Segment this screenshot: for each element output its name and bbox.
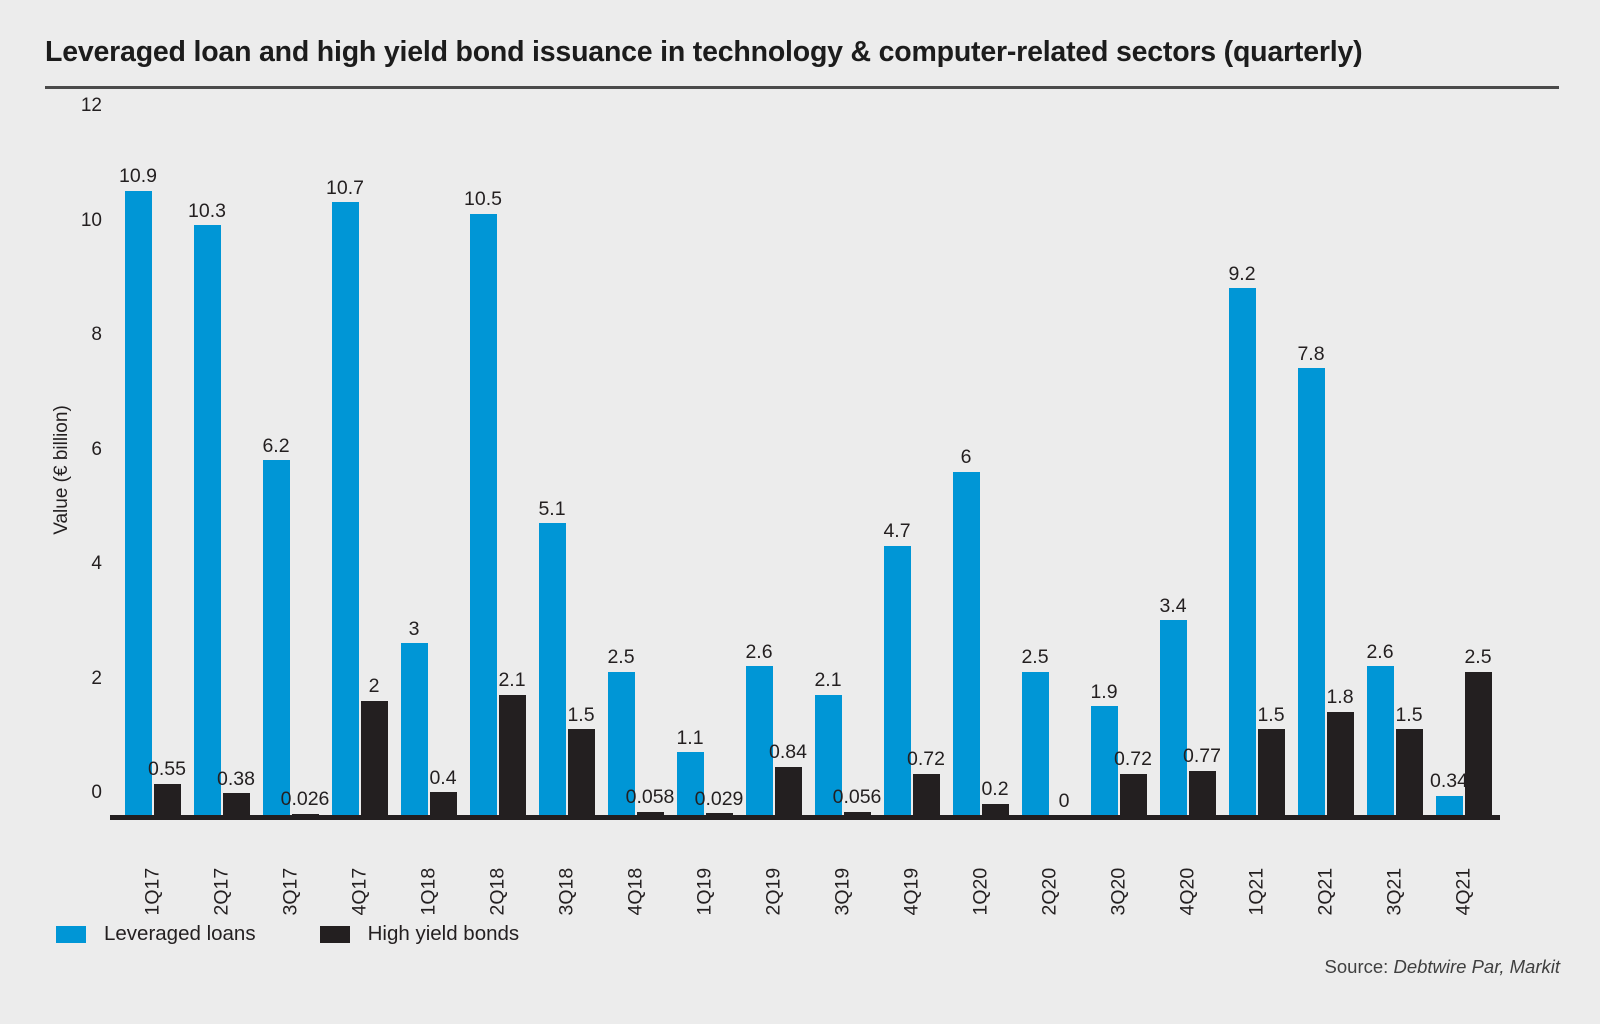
bar-value-label: 1.5 [1257,706,1284,726]
source-value: Debtwire Par, Markit [1393,956,1560,977]
bar-bonds[interactable]: 1.5 [1258,729,1285,815]
y-axis-tick: 8 [91,324,102,346]
bar-group: 2.60.84 [746,128,802,815]
x-axis-tick: 3Q17 [263,828,319,898]
bar-bonds[interactable]: 2 [361,701,388,816]
x-axis-tick: 3Q18 [539,828,595,898]
x-axis-tick-label: 3Q21 [1385,868,1405,916]
x-axis-tick-label: 4Q17 [350,868,370,916]
bar-loans[interactable]: 6 [953,472,980,816]
bar-value-label: 0.77 [1183,747,1221,767]
x-axis-tick-label: 2Q17 [212,868,232,916]
y-axis-title: Value (€ billion) [51,405,73,535]
x-axis-tick-label: 2Q20 [1040,868,1060,916]
x-axis-tick: 1Q19 [677,828,733,898]
bar-value-label: 9.2 [1228,265,1255,285]
bar-bonds[interactable]: 1.5 [1396,729,1423,815]
bar-value-label: 5.1 [538,500,565,520]
bar-value-label: 0.056 [833,788,882,808]
x-axis-tick: 4Q19 [884,828,940,898]
bar-value-label: 1.5 [1395,706,1422,726]
bar-value-label: 2.5 [1464,648,1491,668]
x-axis-tick: 4Q20 [1160,828,1216,898]
x-axis-tick: 3Q20 [1091,828,1147,898]
x-axis-tick: 2Q19 [746,828,802,898]
bar-group: 1.10.029 [677,128,733,815]
bar-group: 0.342.5 [1436,128,1492,815]
legend-swatch-high-yield-bonds [320,926,350,943]
bar-value-label: 7.8 [1297,345,1324,365]
title-divider [45,86,1559,89]
x-axis-tick: 1Q21 [1229,828,1285,898]
x-axis-tick: 2Q18 [470,828,526,898]
bar-group: 60.2 [953,128,1009,815]
bar-loans[interactable]: 4.7 [884,546,911,815]
bar-value-label: 0.34 [1430,772,1468,792]
bar-bonds[interactable]: 0.77 [1189,771,1216,815]
bar-group: 2.50.058 [608,128,664,815]
bar-value-label: 10.5 [464,190,502,210]
bar-loans[interactable]: 2.5 [1022,672,1049,815]
bar-loans[interactable]: 3.4 [1160,620,1187,815]
x-axis-tick: 4Q18 [608,828,664,898]
bar-value-label: 0.058 [626,788,675,808]
x-axis-tick: 2Q17 [194,828,250,898]
bar-value-label: 6 [961,448,972,468]
x-axis-tick: 1Q20 [953,828,1009,898]
bar-bonds[interactable]: 2.5 [1465,672,1492,815]
bar-bonds[interactable]: 2.1 [499,695,526,815]
legend-label-high-yield-bonds: High yield bonds [368,922,520,946]
legend-label-leveraged-loans: Leveraged loans [104,922,256,946]
legend-swatch-leveraged-loans [56,926,86,943]
bar-group: 5.11.5 [539,128,595,815]
bar-bonds[interactable]: 1.8 [1327,712,1354,815]
bar-group: 10.72 [332,128,388,815]
x-axis-tick-label: 2Q18 [488,868,508,916]
y-axis-tick: 10 [81,210,102,232]
bar-group: 2.61.5 [1367,128,1423,815]
x-axis-tick: 1Q18 [401,828,457,898]
x-axis-tick: 2Q20 [1022,828,1078,898]
y-axis-tick: 6 [91,439,102,461]
x-axis-tick-label: 1Q19 [695,868,715,916]
bar-bonds[interactable]: 1.5 [568,729,595,815]
bar-group: 10.30.38 [194,128,250,815]
legend-item-high-yield-bonds: High yield bonds [320,922,520,946]
bar-group: 7.81.8 [1298,128,1354,815]
bar-loans[interactable]: 5.1 [539,523,566,815]
x-axis-tick-label: 3Q17 [281,868,301,916]
bar-group: 30.4 [401,128,457,815]
bar-value-label: 3 [409,620,420,640]
bar-value-label: 1.8 [1326,688,1353,708]
bar-value-label: 2.1 [814,671,841,691]
legend-item-leveraged-loans: Leveraged loans [56,922,256,946]
x-axis-tick-label: 1Q20 [971,868,991,916]
plot-area: 02468101210.90.5510.30.386.20.02610.7230… [118,128,1498,815]
bar-loans[interactable]: 9.2 [1229,288,1256,815]
x-axis-tick-label: 3Q19 [833,868,853,916]
bar-loans[interactable]: 10.7 [332,202,359,815]
x-axis-tick-label: 2Q19 [764,868,784,916]
bar-loans[interactable]: 10.5 [470,214,497,815]
x-axis-tick-label: 1Q18 [419,868,439,916]
bar-value-label: 4.7 [883,522,910,542]
bar-group: 10.90.55 [125,128,181,815]
bar-value-label: 0.38 [217,770,255,790]
bar-value-label: 2.6 [1366,643,1393,663]
x-axis-tick-label: 4Q20 [1178,868,1198,916]
bar-bonds[interactable]: 0.72 [1120,774,1147,815]
x-axis-tick-label: 4Q18 [626,868,646,916]
source-attribution: Source: Debtwire Par, Markit [1325,956,1560,978]
x-axis-tick: 4Q21 [1436,828,1492,898]
bar-loans[interactable]: 3 [401,643,428,815]
page-title: Leveraged loan and high yield bond issua… [45,36,1560,69]
x-axis-tick-label: 1Q17 [143,868,163,916]
source-prefix: Source: [1325,956,1389,977]
bar-bonds[interactable]: 0.84 [775,767,802,815]
bar-value-label: 10.9 [119,167,157,187]
x-axis-tick: 1Q17 [125,828,181,898]
y-axis-tick: 2 [91,668,102,690]
bar-bonds[interactable]: 0.55 [154,784,181,815]
bar-loans[interactable]: 0.34 [1436,796,1463,815]
x-axis-tick-label: 3Q20 [1109,868,1129,916]
bar-bonds[interactable]: 0.2 [982,804,1009,815]
x-axis-tick: 3Q19 [815,828,871,898]
x-axis-tick: 2Q21 [1298,828,1354,898]
bar-value-label: 0.2 [981,780,1008,800]
bar-value-label: 10.3 [188,202,226,222]
bar-value-label: 2.6 [745,643,772,663]
bar-group: 2.10.056 [815,128,871,815]
y-axis-tick: 12 [81,95,102,117]
x-axis-line [110,815,1500,820]
bar-value-label: 2 [369,677,380,697]
bar-group: 1.90.72 [1091,128,1147,815]
y-axis-tick: 4 [91,553,102,575]
bar-group: 2.50 [1022,128,1078,815]
bar-value-label: 0.72 [907,750,945,770]
x-axis-tick-label: 1Q21 [1247,868,1267,916]
x-axis-tick-label: 4Q21 [1454,868,1474,916]
bar-value-label: 1.1 [676,729,703,749]
bar-value-label: 10.7 [326,179,364,199]
bar-value-label: 3.4 [1159,597,1186,617]
x-axis-tick: 3Q21 [1367,828,1423,898]
bar-bonds[interactable]: 0.38 [223,793,250,815]
bar-loans[interactable]: 6.2 [263,460,290,815]
bar-value-label: 2.5 [607,648,634,668]
bar-value-label: 0 [1059,792,1070,812]
bar-group: 3.40.77 [1160,128,1216,815]
y-axis-tick: 0 [91,782,102,804]
bar-value-label: 0.72 [1114,750,1152,770]
bar-bonds[interactable]: 0.72 [913,774,940,815]
bar-value-label: 0.026 [281,790,330,810]
bar-value-label: 1.9 [1090,683,1117,703]
bar-group: 4.70.72 [884,128,940,815]
bar-value-label: 2.1 [498,671,525,691]
bar-loans[interactable]: 10.9 [125,191,152,815]
x-axis-tick-label: 4Q19 [902,868,922,916]
bar-bonds[interactable]: 0.4 [430,792,457,815]
bar-loans[interactable]: 7.8 [1298,368,1325,815]
bar-group: 10.52.1 [470,128,526,815]
bar-loans[interactable]: 2.6 [1367,666,1394,815]
bar-value-label: 0.55 [148,760,186,780]
bar-value-label: 2.5 [1021,648,1048,668]
bar-value-label: 0.029 [695,790,744,810]
bar-loans[interactable]: 10.3 [194,225,221,815]
chart-legend: Leveraged loans High yield bonds [56,922,519,946]
bar-value-label: 6.2 [262,437,289,457]
x-axis-tick: 4Q17 [332,828,388,898]
x-axis-tick-label: 3Q18 [557,868,577,916]
bar-group: 6.20.026 [263,128,319,815]
bar-group: 9.21.5 [1229,128,1285,815]
bar-value-label: 0.4 [429,769,456,789]
bar-value-label: 1.5 [567,706,594,726]
x-axis-tick-label: 2Q21 [1316,868,1336,916]
bar-value-label: 0.84 [769,743,807,763]
